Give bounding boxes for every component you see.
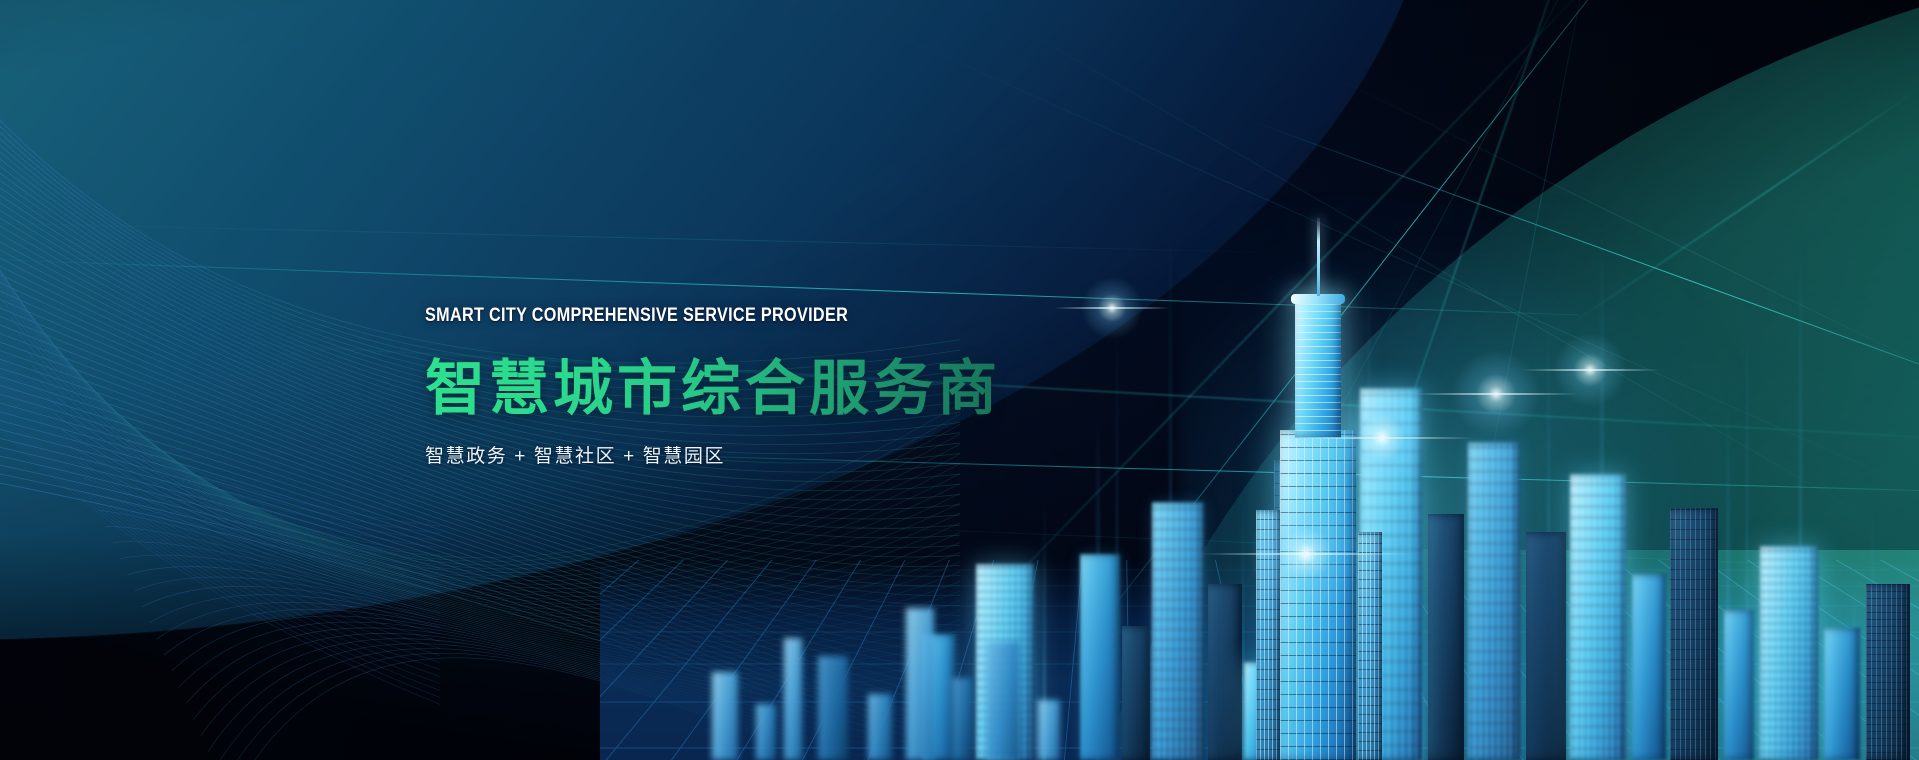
foreground-block	[784, 638, 802, 760]
foreground-block	[756, 704, 776, 760]
foreground-block	[1038, 700, 1060, 760]
central-tower	[1280, 212, 1356, 760]
hero-subtitle: 智慧政务 + 智慧社区 + 智慧园区	[425, 441, 1065, 468]
foreground-block	[986, 642, 1020, 760]
building	[1866, 584, 1910, 760]
building	[1526, 532, 1566, 760]
tower-spire	[1317, 218, 1320, 296]
building	[1670, 508, 1718, 760]
tower-crown	[1295, 298, 1341, 438]
building	[1208, 584, 1242, 760]
foreground-block	[868, 694, 892, 760]
building	[1122, 626, 1150, 760]
building	[1632, 574, 1666, 760]
lens-flare-streak	[1054, 307, 1170, 309]
building	[1724, 610, 1754, 760]
building	[1152, 502, 1204, 760]
building	[1428, 514, 1464, 760]
hero-text-block: SMART CITY COMPREHENSIVE SERVICE PROVIDE…	[425, 304, 1065, 468]
smart-city-hero-banner: SMART CITY COMPREHENSIVE SERVICE PROVIDE…	[0, 0, 1919, 760]
tower-wing	[1358, 532, 1382, 760]
building	[1570, 474, 1626, 760]
tower-wing	[1256, 510, 1280, 760]
foreground-block	[906, 608, 934, 760]
building	[1824, 628, 1860, 760]
building	[1468, 442, 1520, 760]
foreground-block	[952, 678, 972, 760]
hero-headline: 智慧城市综合服务商	[425, 340, 1065, 427]
building	[1080, 554, 1120, 760]
foreground-block	[712, 672, 738, 760]
building	[1760, 546, 1818, 760]
foreground-block	[818, 656, 848, 760]
lens-flare	[1078, 274, 1146, 342]
tower-body	[1280, 430, 1356, 760]
hero-eyebrow-text: SMART CITY COMPREHENSIVE SERVICE PROVIDE…	[425, 304, 956, 327]
